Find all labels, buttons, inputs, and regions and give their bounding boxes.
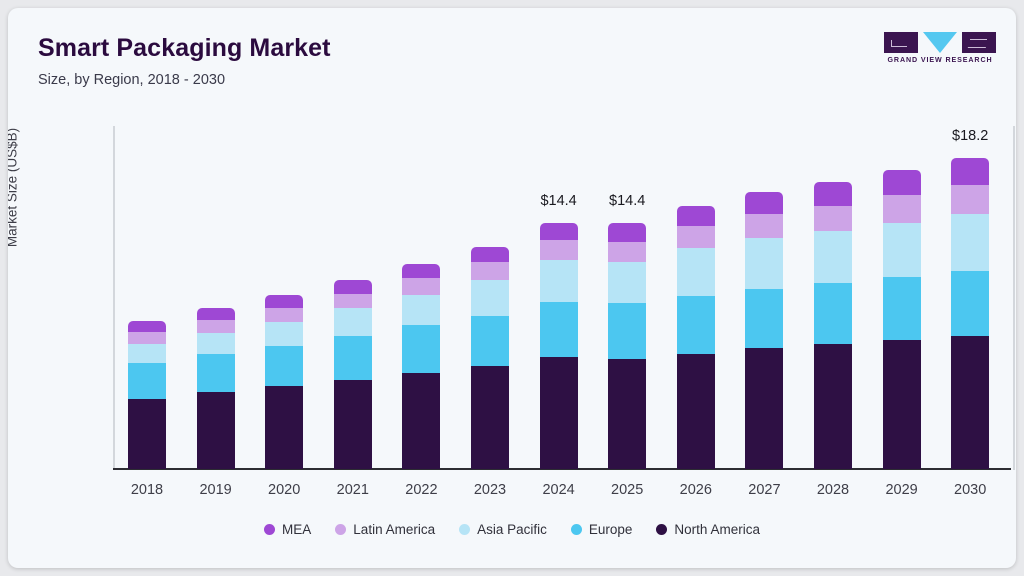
bar-segment-2025-latin-america[interactable] — [608, 241, 646, 262]
bar-segment-2029-asia-pacific[interactable] — [883, 222, 921, 276]
bar-2026[interactable] — [677, 206, 715, 469]
bar-segment-2024-asia-pacific[interactable] — [540, 259, 578, 302]
bar-segment-2019-mea[interactable] — [197, 308, 235, 320]
logo-g-mark-icon — [891, 40, 907, 47]
bar-segment-2018-asia-pacific[interactable] — [128, 344, 166, 363]
bar-segment-2018-north-america[interactable] — [128, 398, 166, 469]
grand-view-research-logo: GRAND VIEW RESEARCH — [884, 32, 996, 66]
bar-segment-2020-mea[interactable] — [265, 295, 303, 308]
bar-segment-2023-europe[interactable] — [471, 315, 509, 366]
legend-item-europe[interactable]: Europe — [571, 522, 633, 537]
bar-segment-2023-mea[interactable] — [471, 247, 509, 262]
legend-swatch-icon — [571, 524, 582, 535]
bar-segment-2020-latin-america[interactable] — [265, 308, 303, 322]
legend-swatch-icon — [656, 524, 667, 535]
bar-segment-2028-north-america[interactable] — [814, 344, 852, 469]
bar-segment-2021-europe[interactable] — [334, 335, 372, 380]
legend-item-latin-america[interactable]: Latin America — [335, 522, 435, 537]
bar-segment-2022-north-america[interactable] — [402, 373, 440, 469]
bar-segment-2024-north-america[interactable] — [540, 356, 578, 469]
page-title: Smart Packaging Market — [38, 34, 331, 63]
bar-segment-2027-latin-america[interactable] — [745, 214, 783, 238]
x-tick-2030: 2030 — [925, 482, 1015, 498]
bar-segment-2026-europe[interactable] — [677, 296, 715, 354]
legend-swatch-icon — [264, 524, 275, 535]
bar-segment-2018-europe[interactable] — [128, 362, 166, 398]
bar-segment-2019-north-america[interactable] — [197, 392, 235, 469]
bar-2022[interactable] — [402, 264, 440, 469]
bar-segment-2028-mea[interactable] — [814, 182, 852, 206]
bar-segment-2030-mea[interactable] — [951, 158, 989, 185]
bar-2030[interactable] — [951, 158, 989, 469]
legend-label: Europe — [589, 522, 633, 537]
legend-item-asia-pacific[interactable]: Asia Pacific — [459, 522, 547, 537]
bar-segment-2019-latin-america[interactable] — [197, 320, 235, 333]
bar-2019[interactable] — [197, 308, 235, 469]
bar-segment-2022-europe[interactable] — [402, 325, 440, 373]
bar-segment-2024-europe[interactable] — [540, 302, 578, 357]
bar-2027[interactable] — [745, 192, 783, 469]
bar-segment-2020-europe[interactable] — [265, 345, 303, 386]
legend-item-north-america[interactable]: North America — [656, 522, 760, 537]
bar-2028[interactable] — [814, 182, 852, 469]
bar-segment-2026-mea[interactable] — [677, 206, 715, 227]
data-label-2030: $18.2 — [925, 128, 1015, 144]
bar-segment-2024-mea[interactable] — [540, 223, 578, 240]
bar-segment-2025-north-america[interactable] — [608, 358, 646, 469]
bar-segment-2025-europe[interactable] — [608, 303, 646, 359]
bar-segment-2030-north-america[interactable] — [951, 335, 989, 469]
bar-segment-2029-north-america[interactable] — [883, 339, 921, 469]
bar-segment-2022-latin-america[interactable] — [402, 278, 440, 295]
bar-segment-2027-europe[interactable] — [745, 289, 783, 348]
bar-segment-2018-mea[interactable] — [128, 321, 166, 332]
bar-segment-2025-mea[interactable] — [608, 223, 646, 242]
bar-segment-2029-latin-america[interactable] — [883, 195, 921, 223]
bar-segment-2030-latin-america[interactable] — [951, 185, 989, 215]
bar-segment-2026-latin-america[interactable] — [677, 226, 715, 249]
bar-segment-2028-asia-pacific[interactable] — [814, 231, 852, 284]
bar-segment-2027-mea[interactable] — [745, 192, 783, 214]
bar-segment-2018-latin-america[interactable] — [128, 332, 166, 344]
bar-segment-2028-europe[interactable] — [814, 283, 852, 344]
bar-segment-2026-asia-pacific[interactable] — [677, 248, 715, 296]
bar-segment-2026-north-america[interactable] — [677, 353, 715, 469]
legend-label: Latin America — [353, 522, 435, 537]
bar-segment-2022-mea[interactable] — [402, 264, 440, 279]
chart-legend: MEALatin AmericaAsia PacificEuropeNorth … — [8, 522, 1016, 537]
bar-segment-2023-north-america[interactable] — [471, 366, 509, 469]
bar-segment-2024-latin-america[interactable] — [540, 239, 578, 259]
page-subtitle: Size, by Region, 2018 - 2030 — [38, 72, 225, 88]
bar-segment-2021-latin-america[interactable] — [334, 293, 372, 308]
bar-segment-2023-latin-america[interactable] — [471, 262, 509, 280]
bar-2020[interactable] — [265, 295, 303, 469]
legend-label: North America — [674, 522, 760, 537]
bar-segment-2029-europe[interactable] — [883, 276, 921, 340]
bar-segment-2019-asia-pacific[interactable] — [197, 333, 235, 355]
bar-segment-2021-north-america[interactable] — [334, 380, 372, 469]
bar-2023[interactable] — [471, 247, 509, 469]
legend-swatch-icon — [335, 524, 346, 535]
bar-2021[interactable] — [334, 280, 372, 469]
data-label-2025: $14.4 — [582, 193, 672, 209]
legend-label: MEA — [282, 522, 311, 537]
y-axis-label: Market Size (US$B) — [8, 8, 20, 398]
bar-segment-2030-europe[interactable] — [951, 270, 989, 335]
legend-swatch-icon — [459, 524, 470, 535]
bar-segment-2023-asia-pacific[interactable] — [471, 280, 509, 316]
bar-segment-2021-mea[interactable] — [334, 280, 372, 294]
chart-card: Smart Packaging Market Size, by Region, … — [8, 8, 1016, 568]
logo-triangle-icon — [923, 32, 957, 53]
bar-segment-2021-asia-pacific[interactable] — [334, 308, 372, 336]
bar-segment-2020-asia-pacific[interactable] — [265, 321, 303, 345]
bar-segment-2027-north-america[interactable] — [745, 348, 783, 469]
bar-segment-2019-europe[interactable] — [197, 354, 235, 392]
bar-segment-2028-latin-america[interactable] — [814, 205, 852, 231]
bar-2024[interactable] — [540, 223, 578, 469]
bar-2018[interactable] — [128, 321, 166, 469]
bar-2029[interactable] — [883, 170, 921, 469]
legend-label: Asia Pacific — [477, 522, 547, 537]
bar-segment-2030-asia-pacific[interactable] — [951, 214, 989, 271]
legend-item-mea[interactable]: MEA — [264, 522, 311, 537]
bar-segment-2027-asia-pacific[interactable] — [745, 238, 783, 290]
bar-segment-2022-asia-pacific[interactable] — [402, 294, 440, 325]
logo-text: GRAND VIEW RESEARCH — [884, 56, 996, 64]
bar-2025[interactable] — [608, 223, 646, 469]
bar-segment-2025-asia-pacific[interactable] — [608, 262, 646, 304]
bar-segment-2020-north-america[interactable] — [265, 386, 303, 469]
bar-segment-2029-mea[interactable] — [883, 170, 921, 196]
